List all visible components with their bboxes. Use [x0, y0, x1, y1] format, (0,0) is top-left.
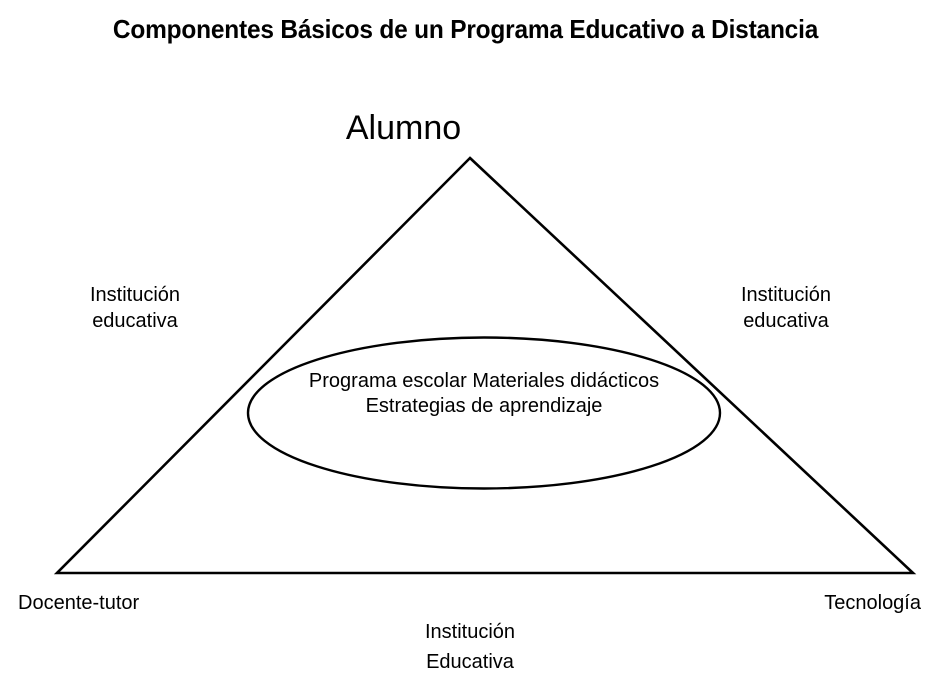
bottom-right-label-tecnologia: Tecnología [651, 590, 921, 616]
bottom-left-label-docente-tutor: Docente-tutor [18, 590, 139, 616]
triangle-shape [57, 158, 913, 573]
right-side-label-institucion-educativa: Institución educativa [646, 282, 926, 334]
center-ellipse-label: Programa escolar Materiales didácticos E… [281, 369, 687, 419]
diagram-canvas [0, 0, 931, 679]
left-side-label-institucion-educativa: Institución educativa [0, 282, 275, 334]
bottom-center-label-institucion-educativa: Institución Educativa [330, 617, 610, 677]
apex-label-alumno: Alumno [0, 108, 869, 148]
